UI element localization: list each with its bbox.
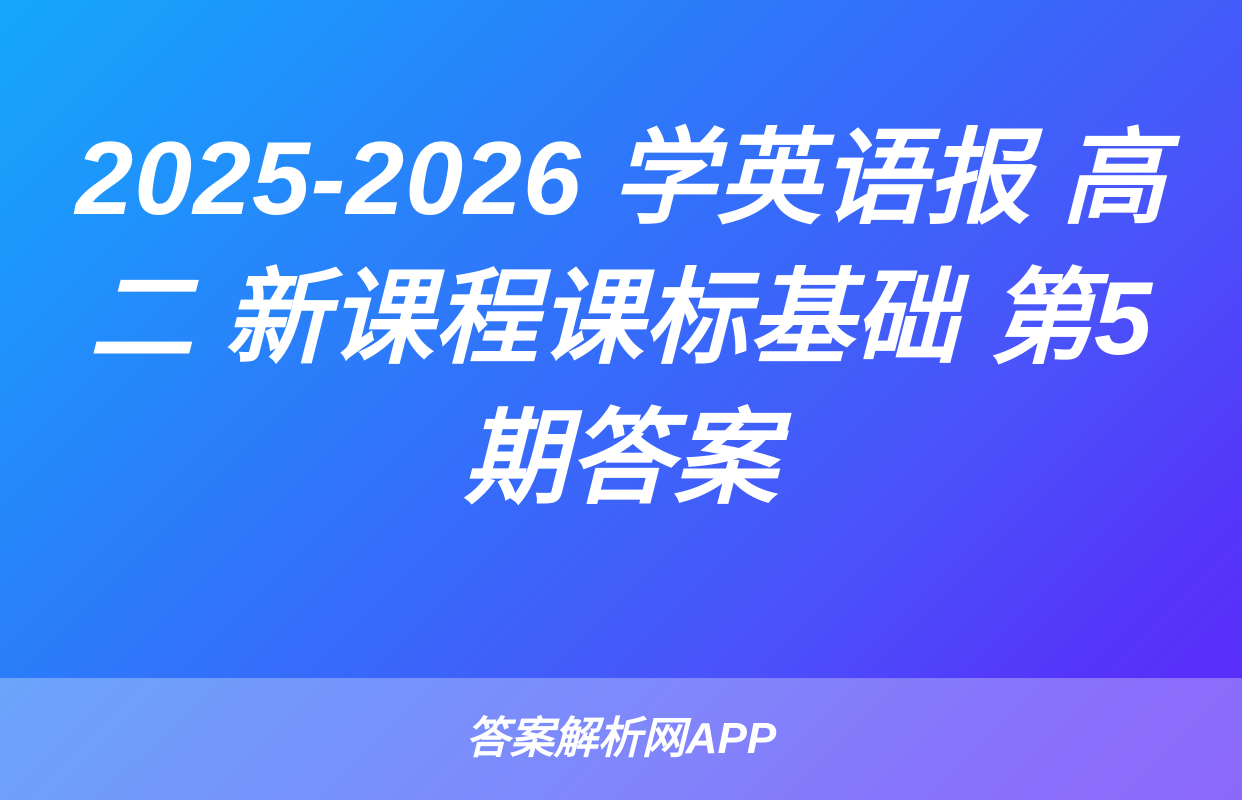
page-title-line-1: 2025-2026 学英语报 高 (62, 109, 1180, 249)
footer-brand-band: 答案解析网APP (0, 678, 1242, 800)
footer-brand-label: 答案解析网APP (466, 713, 776, 765)
page-title-line-2: 二 新课程课标基础 第5 (62, 249, 1180, 389)
answer-card: 2025-2026 学英语报 高 二 新课程课标基础 第5 期答案 答案解析网A… (0, 0, 1242, 800)
page-title-line-3: 期答案 (62, 389, 1180, 529)
page-title: 2025-2026 学英语报 高 二 新课程课标基础 第5 期答案 (0, 0, 1242, 678)
